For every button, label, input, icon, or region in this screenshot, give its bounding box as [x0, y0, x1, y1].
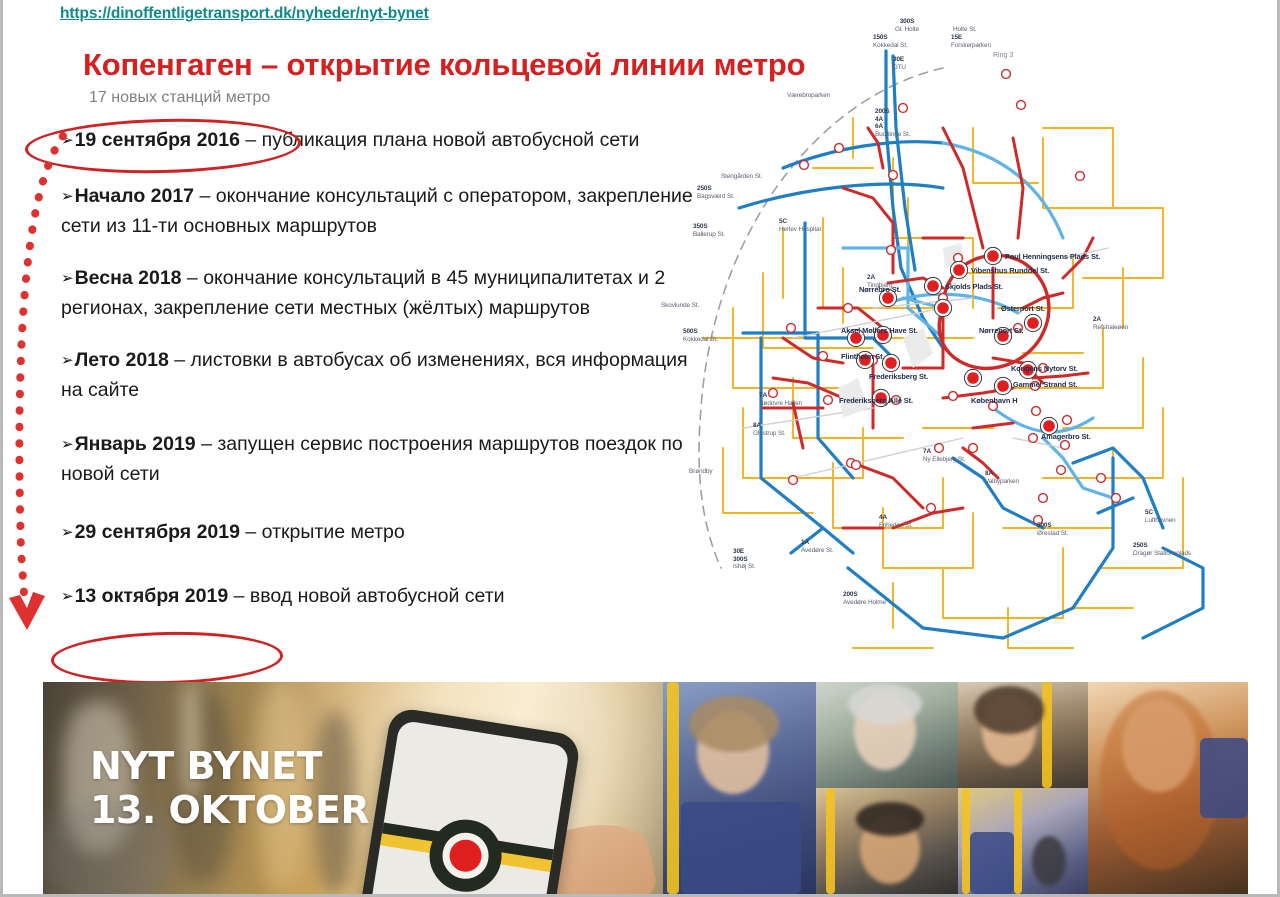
map-route-code: 30E — [733, 548, 744, 555]
map-label-terminus: Stengården St. — [721, 173, 762, 181]
map-place-name: DTU — [893, 64, 906, 71]
map-label-terminus: Brøndby — [689, 468, 712, 476]
photo-girl-looking-out — [1088, 682, 1248, 894]
map-place-name: Gl. Holte — [895, 26, 919, 33]
map-place-name: Værebroparken — [787, 92, 830, 99]
timeline-date: Январь 2019 — [75, 433, 196, 455]
map-place-name: Holte St. — [953, 26, 977, 33]
map-place-name: Herlev Hospital — [779, 226, 821, 233]
map-route-code: 1A — [801, 539, 809, 546]
map-route-code: 5C — [1145, 509, 1153, 516]
phone-screen: REJSEPLANEN — [364, 720, 570, 894]
map-route-code: 15E — [951, 34, 962, 41]
timeline-dash: – — [240, 521, 262, 543]
bullet-arrow-icon: ➢ — [61, 183, 74, 211]
map-station-label: Vibenshus Runddel St. — [971, 266, 1049, 275]
map-route-code: 4A — [879, 514, 887, 521]
map-label-terminus: Skovlunde St. — [661, 302, 699, 310]
timeline-item: ➢Январь 2019 – запущен сервис построения… — [61, 430, 701, 488]
promo-line-2: 13. OKTOBER — [90, 788, 369, 832]
map-route-code: 250S — [697, 185, 712, 192]
photo-bus-interior — [958, 788, 1088, 894]
map-route-code: 300S — [733, 556, 748, 563]
timeline-dash: – — [240, 129, 262, 151]
photo-column-middle-right — [958, 682, 1088, 894]
map-place-name: Friheden St. — [879, 522, 913, 529]
promo-line-1: NYT BYNET — [90, 744, 369, 788]
map-place-name: Forskerparken — [951, 42, 991, 49]
map-route-code: 2A — [1093, 316, 1101, 323]
map-label-terminus: 150SKokkedal St. — [873, 34, 908, 49]
map-label-terminus: 200S4A6ABuddinge St. — [875, 108, 910, 138]
map-label-terminus: 7ARødovre Hallen — [759, 392, 802, 407]
map-place-name: Dragør Stationsplads — [1133, 550, 1191, 557]
map-station-label: Skjolds Plads St. — [945, 282, 1003, 291]
map-route-code: 500S — [1037, 522, 1052, 529]
map-place-name: Glostrup St. — [753, 430, 786, 437]
copenhagen-transit-map: Ring 3 300SGl. Holte Holte St. 150SKokke… — [643, 8, 1263, 668]
timeline-text: открытие метро — [262, 521, 405, 543]
map-place-name: Kokkedal St. — [873, 42, 908, 49]
map-place-name: Avedøre St. — [801, 547, 834, 554]
timeline-item: ➢29 сентября 2019 – открытие метро — [61, 518, 701, 548]
map-label-terminus: 30E300SIshøj St. — [733, 548, 756, 571]
map-place-name: Bagsværd St. — [697, 193, 735, 200]
map-label-terminus: 350SBallerup St. — [693, 223, 725, 238]
bullet-arrow-icon: ➢ — [61, 127, 74, 155]
map-route-code: 4A — [875, 116, 883, 123]
map-route-code: 8A — [985, 470, 993, 477]
map-station-label: Østerport St. — [1001, 304, 1045, 313]
map-place-name: Avedøre Holme — [843, 599, 886, 606]
map-label-terminus: 8AGlostrup St. — [753, 422, 786, 437]
map-route-code: 200S — [843, 591, 858, 598]
map-label-terminus: 500SØrestad St. — [1037, 522, 1068, 537]
map-route-code: 8A — [753, 422, 761, 429]
passenger-photo-collage — [663, 682, 1248, 894]
timeline-date: Весна 2018 — [75, 267, 182, 289]
map-place-name: Ørestad St. — [1037, 530, 1068, 537]
map-station-label: Nørreport St. — [979, 326, 1023, 335]
smartphone-mockup: REJSEPLANEN — [356, 706, 581, 894]
timeline-date: 13 октября 2019 — [75, 585, 229, 607]
photo-young-man — [816, 788, 958, 894]
map-label-terminus: 15EForskerparken — [951, 34, 991, 49]
map-route-code: 500S — [683, 328, 698, 335]
map-label-terminus: 1AAvedøre St. — [801, 539, 834, 554]
timeline-text: публикация плана новой автобусной сети — [262, 129, 640, 151]
map-station-label: Nørrebro St. — [859, 285, 901, 294]
map-route-code: 250S — [1133, 542, 1148, 549]
map-label-terminus: 5CLufthavnen — [1145, 509, 1176, 524]
photo-elderly-woman — [816, 682, 958, 788]
map-place-name: Buddinge St. — [875, 131, 910, 138]
promo-poster: NYT BYNET 13. OKTOBER REJSEPLANEN — [43, 682, 663, 894]
timeline-dash: – — [182, 267, 204, 289]
map-station-label: Amagerbro St. — [1041, 432, 1091, 441]
timeline-item: ➢13 октября 2019 – ввод новой автобусной… — [61, 582, 701, 612]
map-place-name: Valbyparken — [985, 478, 1019, 485]
map-place-name: Rødovre Hallen — [759, 400, 802, 407]
map-route-code: 200S — [875, 108, 890, 115]
map-route-code: 2A — [867, 274, 875, 281]
map-route-code: 300S — [900, 18, 915, 25]
map-label-terminus: 250SBagsværd St. — [697, 185, 735, 200]
map-route-code: 6A — [875, 123, 883, 130]
campaign-image-band: NYT BYNET 13. OKTOBER REJSEPLANEN — [43, 682, 1248, 894]
map-station-label: Frederiksberg Allé St. — [839, 396, 913, 405]
timeline-item: ➢Начало 2017 – окончание консультаций с … — [61, 182, 701, 240]
timeline-dash: – — [194, 185, 216, 207]
bullet-arrow-icon: ➢ — [61, 583, 74, 611]
photo-boy-on-bus — [663, 682, 816, 894]
map-label-terminus: 30EDTU — [893, 56, 906, 71]
bullet-arrow-icon: ➢ — [61, 519, 74, 547]
map-station-label: København H — [971, 396, 1018, 405]
map-station-label: Kongens Nytorv St. — [1011, 364, 1078, 373]
map-place-name: Lufthavnen — [1145, 517, 1176, 524]
source-url-link[interactable]: https://dinoffentligetransport.dk/nyhede… — [60, 5, 429, 23]
timeline-date: 19 сентября 2016 — [75, 129, 240, 151]
map-place-name: Refshaleøen — [1093, 324, 1128, 331]
timeline-item: ➢Весна 2018 – окончание консультаций в 4… — [61, 264, 701, 322]
photo-woman-smiling — [958, 682, 1088, 788]
map-label-terminus: 300SGl. Holte — [895, 18, 919, 33]
slide: https://dinoffentligetransport.dk/nyhede… — [0, 0, 1280, 897]
timeline-text: ввод новой автобусной сети — [250, 585, 505, 607]
map-route-code: 30E — [893, 56, 904, 63]
map-station-label: Aksel Møllers Have St. — [841, 326, 918, 335]
map-station-label: Poul Henningsens Plads St. — [1005, 252, 1100, 261]
timeline-dash: – — [196, 433, 218, 455]
map-label-terminus: 500SKokkedal St. — [683, 328, 718, 343]
promo-headline: NYT BYNET 13. OKTOBER — [90, 744, 369, 832]
map-route-code: 7A — [759, 392, 767, 399]
map-place-name: Ballerup St. — [693, 231, 725, 238]
timeline-date: Лето 2018 — [75, 349, 169, 371]
map-label-terminus: Holte St. — [953, 26, 977, 34]
highlight-ellipse-last-date — [50, 630, 283, 687]
page-subtitle: 17 новых станций метро — [89, 89, 270, 107]
timeline-item: ➢Лето 2018 – листовки в автобусах об изм… — [61, 346, 701, 404]
map-label-terminus: 2ARefshaleøen — [1093, 316, 1128, 331]
map-place-name: Skovlunde St. — [661, 302, 699, 309]
map-place-name: Brøndby — [689, 468, 712, 475]
map-label-ring3: Ring 3 — [993, 52, 1013, 59]
bullet-arrow-icon: ➢ — [61, 265, 74, 293]
timeline-list: ➢19 сентября 2016 – публикация плана нов… — [61, 126, 701, 632]
map-place-name: Stengården St. — [721, 173, 762, 180]
map-label-terminus: 5CHerlev Hospital — [779, 218, 821, 233]
timeline-dash: – — [169, 349, 191, 371]
map-label-terminus: 7ANy Ellebjerg St. — [923, 448, 965, 463]
bullet-arrow-icon: ➢ — [61, 431, 74, 459]
map-place-name: Kokkedal St. — [683, 336, 718, 343]
map-label-terminus: Værebroparken — [787, 92, 830, 100]
map-route-code: 150S — [873, 34, 888, 41]
timeline-date: 29 сентября 2019 — [75, 521, 240, 543]
photo-column-middle-left — [816, 682, 958, 894]
map-label-terminus: 200SAvedøre Holme — [843, 591, 886, 606]
map-label-terminus: 4AFriheden St. — [879, 514, 913, 529]
map-label-terminus: 250SDragør Stationsplads — [1133, 542, 1191, 557]
timeline-date: Начало 2017 — [75, 185, 194, 207]
map-station-label: Gammel Strand St. — [1013, 380, 1077, 389]
timeline-item: ➢19 сентября 2016 – публикация плана нов… — [61, 126, 701, 156]
map-route-code: 7A — [923, 448, 931, 455]
map-route-code: 350S — [693, 223, 708, 230]
bullet-arrow-icon: ➢ — [61, 347, 74, 375]
map-place-name: Ny Ellebjerg St. — [923, 456, 965, 463]
map-station-label: Flintholm St. — [841, 352, 884, 361]
map-station-label: Frederiksberg St. — [869, 372, 928, 381]
map-label-terminus: 8AValbyparken — [985, 470, 1019, 485]
map-place-name: Ishøj St. — [733, 563, 756, 570]
timeline-dash: – — [228, 585, 250, 607]
map-route-code: 5C — [779, 218, 787, 225]
